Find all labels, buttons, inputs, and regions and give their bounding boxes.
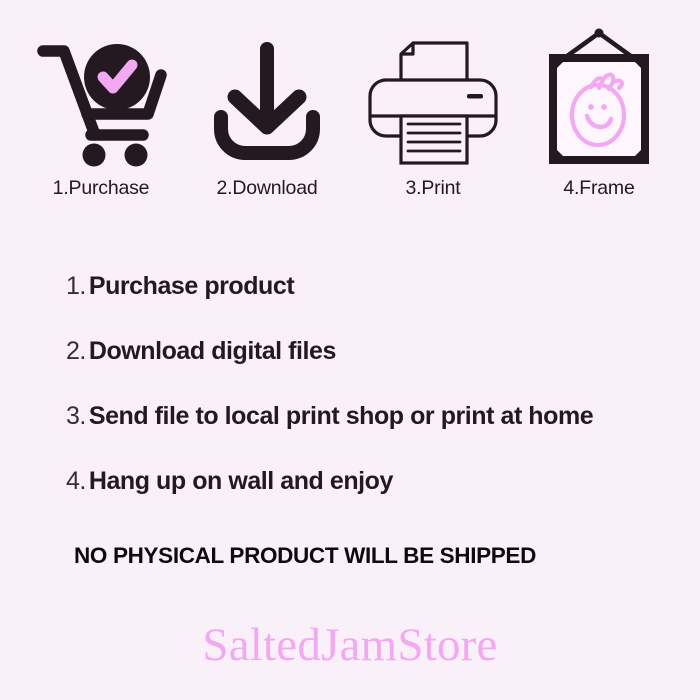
step-print: 3.Print bbox=[354, 33, 512, 199]
step-download: 2.Download bbox=[188, 33, 346, 199]
step-frame-label: 4.Frame bbox=[563, 179, 634, 199]
step-print-icon-wrap bbox=[367, 33, 499, 173]
step-purchase-label: 1.Purchase bbox=[53, 179, 150, 199]
hanging-picture-frame-icon bbox=[539, 28, 659, 178]
instruction-item: 3. Send file to local print shop or prin… bbox=[0, 402, 700, 467]
instruction-number: 4. bbox=[66, 467, 86, 496]
instruction-text: Purchase product bbox=[89, 272, 294, 301]
instructions-list: 1. Purchase product 2. Download digital … bbox=[0, 272, 700, 532]
instruction-text: Send file to local print shop or print a… bbox=[89, 402, 593, 431]
store-brand-name: SaltedJamStore bbox=[0, 618, 700, 672]
step-frame-icon-wrap bbox=[539, 33, 659, 173]
steps-row: 1.Purchase 2.Download bbox=[0, 18, 700, 198]
step-download-label: 2.Download bbox=[217, 179, 318, 199]
instruction-number: 1. bbox=[66, 272, 86, 301]
instruction-number: 2. bbox=[66, 337, 86, 366]
step-print-label: 3.Print bbox=[406, 179, 461, 199]
instruction-item: 2. Download digital files bbox=[0, 337, 700, 402]
instruction-card: 1.Purchase 2.Download bbox=[0, 0, 700, 700]
instruction-number: 3. bbox=[66, 402, 86, 431]
instruction-text: Download digital files bbox=[89, 337, 336, 366]
no-physical-product-notice: NO PHYSICAL PRODUCT WILL BE SHIPPED bbox=[0, 543, 700, 569]
step-frame: 4.Frame bbox=[520, 33, 678, 199]
instruction-text: Hang up on wall and enjoy bbox=[89, 467, 393, 496]
download-arrow-tray-icon bbox=[207, 37, 327, 169]
shopping-cart-check-icon bbox=[33, 37, 169, 169]
step-download-icon-wrap bbox=[207, 33, 327, 173]
printer-icon bbox=[367, 40, 499, 166]
step-purchase: 1.Purchase bbox=[22, 33, 180, 199]
instruction-item: 1. Purchase product bbox=[0, 272, 700, 337]
step-purchase-icon-wrap bbox=[33, 33, 169, 173]
instruction-item: 4. Hang up on wall and enjoy bbox=[0, 467, 700, 532]
